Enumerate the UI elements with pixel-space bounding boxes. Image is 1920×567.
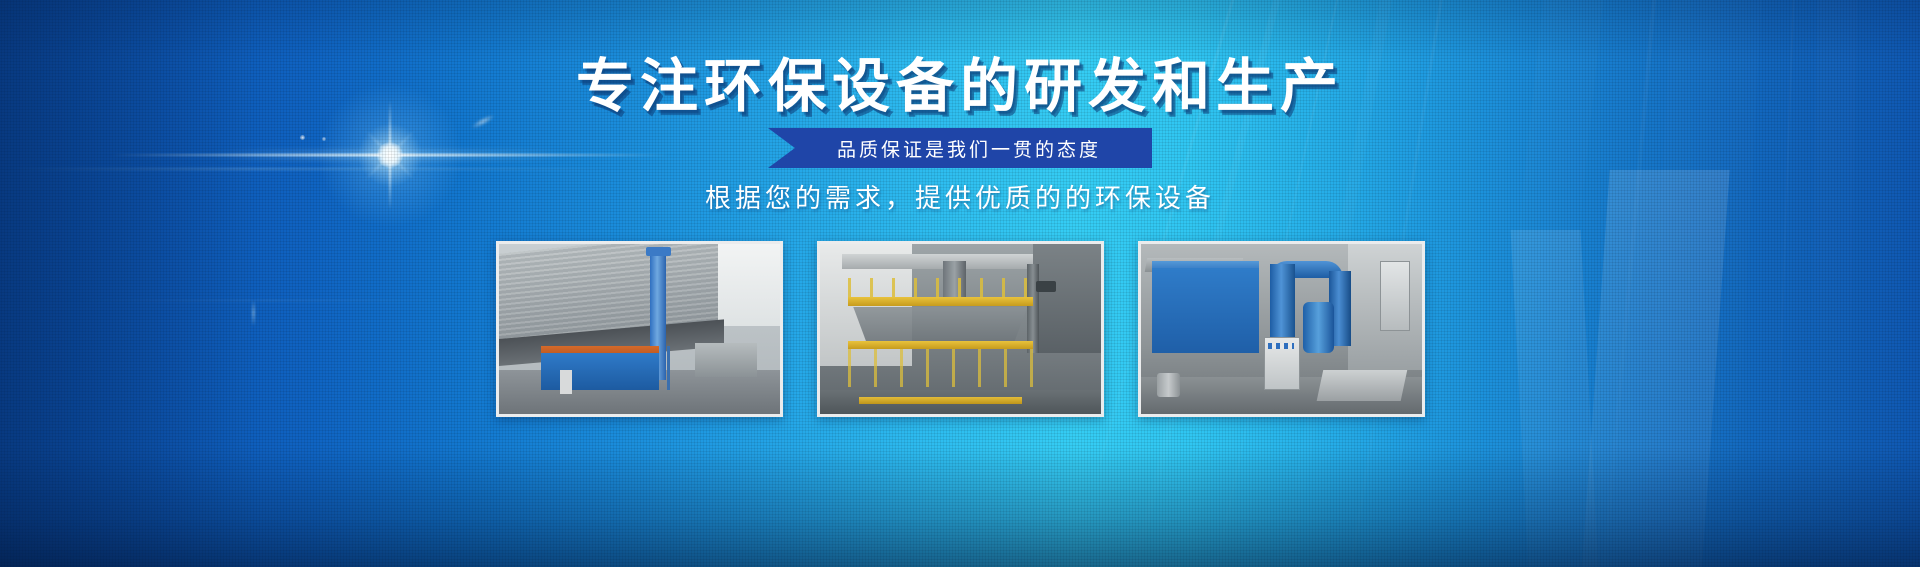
banner-headline: 专注环保设备的研发和生产 bbox=[0, 57, 1920, 118]
photo-factory-exterior[interactable] bbox=[496, 241, 783, 417]
photo-gallery bbox=[0, 241, 1920, 417]
light-streak bbox=[0, 168, 620, 170]
promo-banner: 专注环保设备的研发和生产 品质保证是我们一贯的态度 根据您的需求，提供优质的的环… bbox=[0, 0, 1920, 567]
banner-ribbon: 品质保证是我们一贯的态度 bbox=[768, 128, 1152, 168]
photo-plant-yellow-rails[interactable] bbox=[817, 241, 1104, 417]
bottom-vignette bbox=[0, 447, 1920, 567]
ribbon-label: 品质保证是我们一贯的态度 bbox=[819, 135, 1101, 162]
banner-subline: 根据您的需求，提供优质的的环保设备 bbox=[0, 178, 1920, 215]
photo-dust-collector[interactable] bbox=[1138, 241, 1425, 417]
ribbon-container: 品质保证是我们一贯的态度 bbox=[0, 128, 1920, 168]
top-vignette bbox=[0, 0, 1920, 60]
